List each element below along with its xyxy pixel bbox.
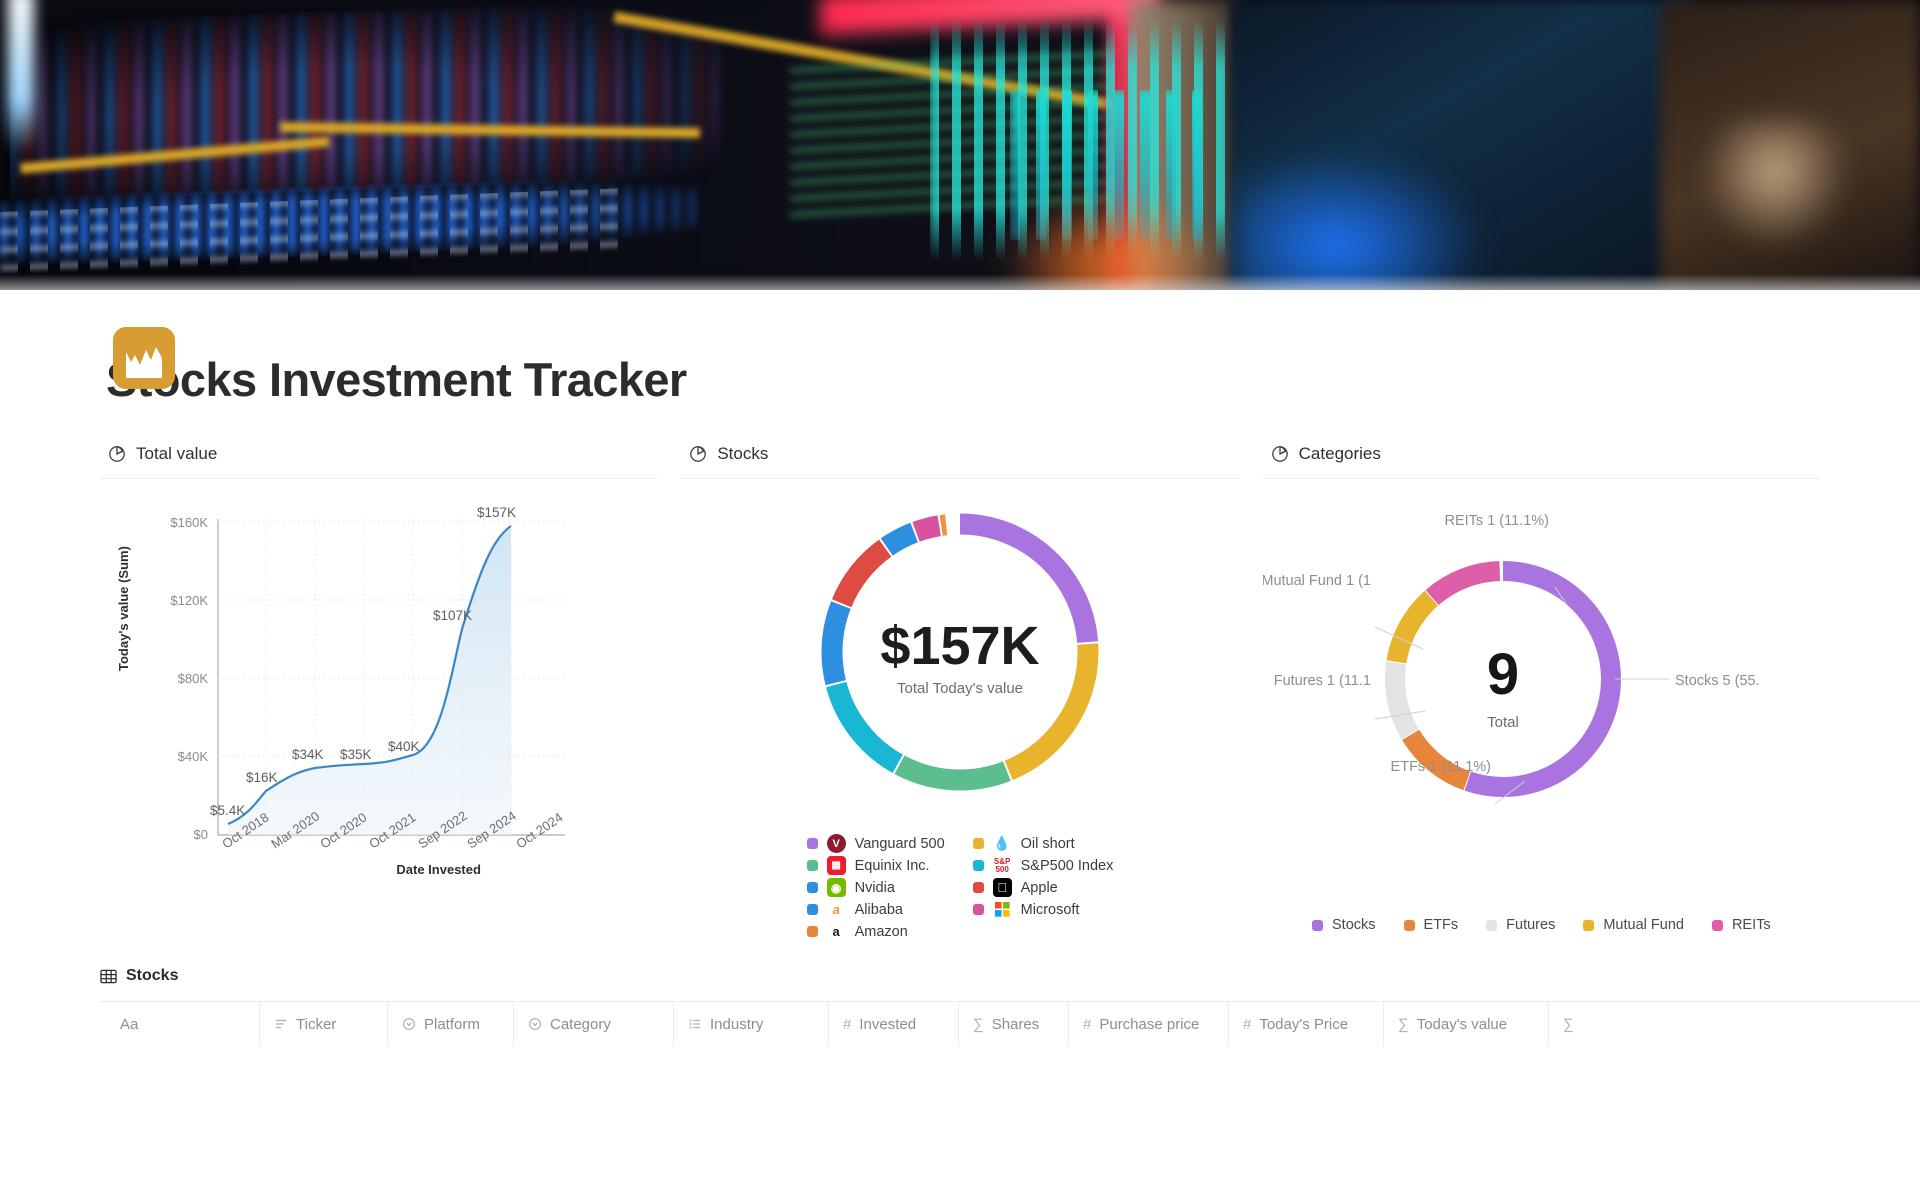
legend-label: Mutual Fund bbox=[1603, 917, 1684, 933]
column-header-industry[interactable]: Industry bbox=[674, 1002, 829, 1046]
y-tick-0: $0 bbox=[194, 827, 208, 842]
point-label-5: $107K bbox=[433, 608, 472, 623]
legend-label: Futures bbox=[1506, 917, 1555, 933]
column-header-category[interactable]: Category bbox=[514, 1002, 674, 1046]
pie-chart-icon bbox=[108, 445, 126, 463]
banner-image bbox=[0, 0, 1920, 290]
stocks-table-section: Stocks Aa Ticker Platform bbox=[0, 967, 1920, 1046]
formula-icon: ∑ bbox=[1398, 1016, 1409, 1033]
column-label: Purchase price bbox=[1099, 1016, 1199, 1033]
page-title: Stocks Investment Tracker bbox=[106, 352, 1920, 407]
donut-center-label: Total bbox=[1487, 714, 1519, 731]
panel-title: Stocks bbox=[717, 444, 768, 464]
column-label: Category bbox=[550, 1016, 611, 1033]
legend-label: Apple bbox=[1021, 880, 1058, 896]
donut-center-value: 9 bbox=[1487, 642, 1519, 707]
legend-color-swatch bbox=[1486, 920, 1497, 931]
page-banner bbox=[0, 0, 1920, 290]
charts-row: Total value Today's value (Sum) $160K $1… bbox=[0, 444, 1920, 941]
equinix-icon: ▦ bbox=[827, 856, 846, 875]
panel-title: Total value bbox=[136, 444, 217, 464]
table-icon bbox=[100, 968, 117, 985]
point-label-6: $157K bbox=[477, 505, 516, 520]
stocks-donut-chart[interactable]: $157K Total Today's value bbox=[681, 479, 1238, 824]
column-header-overflow[interactable]: ∑ bbox=[1549, 1002, 1639, 1046]
callout-futures: Futures 1 (11.1 bbox=[1273, 673, 1370, 689]
column-label: Platform bbox=[424, 1016, 480, 1033]
panel-categories: Categories bbox=[1263, 444, 1820, 941]
legend-color-swatch bbox=[1312, 920, 1323, 931]
legend-label: Vanguard 500 bbox=[855, 836, 945, 852]
legend-label: Nvidia bbox=[855, 880, 895, 896]
point-label-0: $5.4K bbox=[210, 803, 245, 818]
panel-header-stocks: Stocks bbox=[681, 444, 1238, 479]
formula-icon: ∑ bbox=[1563, 1016, 1574, 1033]
table-header: Stocks bbox=[100, 967, 1920, 1001]
point-label-1: $16K bbox=[246, 770, 278, 785]
legend-label: S&P500 Index bbox=[1021, 858, 1114, 874]
legend-item-etfs[interactable]: ETFs bbox=[1404, 917, 1459, 933]
column-header-todays-price[interactable]: # Today's Price bbox=[1229, 1002, 1384, 1046]
legend-item-futures[interactable]: Futures bbox=[1486, 917, 1555, 933]
legend-color-swatch bbox=[1583, 920, 1594, 931]
column-label: Industry bbox=[710, 1016, 763, 1033]
multiselect-icon bbox=[688, 1017, 702, 1031]
nvidia-icon: ◉ bbox=[827, 878, 846, 897]
line-chart-svg[interactable]: $160K $120K $80K $40K $0 bbox=[100, 479, 570, 869]
column-label: Shares bbox=[992, 1016, 1040, 1033]
categories-legend: Stocks ETFs Futures Mutual Fund REITs bbox=[1263, 917, 1820, 933]
callout-etfs: ETFs 1 (11.1%) bbox=[1390, 759, 1490, 775]
legend-color-swatch bbox=[1404, 920, 1415, 931]
y-tick-80k: $80K bbox=[178, 671, 209, 686]
legend-item-microsoft[interactable]: Microsoft bbox=[973, 900, 1114, 919]
legend-color-swatch bbox=[807, 904, 818, 915]
legend-label: Microsoft bbox=[1021, 902, 1080, 918]
pie-chart-icon bbox=[689, 445, 707, 463]
legend-label: Oil short bbox=[1021, 836, 1075, 852]
legend-color-swatch bbox=[973, 838, 984, 849]
legend-label: Amazon bbox=[855, 924, 908, 940]
amazon-icon: a bbox=[827, 922, 846, 941]
column-label: Aa bbox=[120, 1016, 138, 1033]
legend-label: Alibaba bbox=[855, 902, 903, 918]
text-icon bbox=[274, 1017, 288, 1031]
panel-header-total-value: Total value bbox=[100, 444, 657, 479]
categories-donut-svg[interactable]: 9 Total REITs 1 (11.1%) Mutual Fund 1 (1 bbox=[1263, 479, 1820, 899]
pie-chart-icon bbox=[1271, 445, 1289, 463]
y-tick-160k: $160K bbox=[170, 515, 208, 530]
table-title: Stocks bbox=[126, 967, 178, 985]
sp500-icon: S&P500 bbox=[993, 856, 1012, 875]
legend-item-sp500-index[interactable]: S&P500 S&P500 Index bbox=[973, 856, 1114, 875]
panel-header-categories: Categories bbox=[1263, 444, 1820, 479]
x-tick-6: Oct 2024 bbox=[513, 810, 565, 852]
column-header-purchase-price[interactable]: # Purchase price bbox=[1069, 1002, 1229, 1046]
vanguard-icon: V bbox=[827, 834, 846, 853]
legend-item-alibaba[interactable]: a Alibaba bbox=[807, 900, 945, 919]
alibaba-icon: a bbox=[827, 900, 846, 919]
select-icon bbox=[402, 1017, 416, 1031]
donut-center-value: $157K bbox=[880, 616, 1039, 676]
panel-title: Categories bbox=[1299, 444, 1381, 464]
stocks-legend: V Vanguard 500 💧 Oil short ▦ Equinix Inc… bbox=[681, 834, 1238, 941]
categories-donut-chart[interactable]: 9 Total REITs 1 (11.1%) Mutual Fund 1 (1 bbox=[1263, 479, 1820, 899]
legend-item-oil-short[interactable]: 💧 Oil short bbox=[973, 834, 1114, 853]
column-label: Today's Price bbox=[1259, 1016, 1348, 1033]
number-icon: # bbox=[843, 1016, 851, 1033]
legend-label: ETFs bbox=[1424, 917, 1459, 933]
y-tick-40k: $40K bbox=[178, 749, 209, 764]
column-header-shares[interactable]: ∑ Shares bbox=[959, 1002, 1069, 1046]
column-label: Ticker bbox=[296, 1016, 336, 1033]
number-icon: # bbox=[1243, 1016, 1251, 1033]
legend-color-swatch bbox=[807, 838, 818, 849]
legend-color-swatch bbox=[973, 904, 984, 915]
legend-color-swatch bbox=[807, 926, 818, 937]
legend-item-stocks[interactable]: Stocks bbox=[1312, 917, 1376, 933]
panel-total-value: Total value Today's value (Sum) $160K $1… bbox=[100, 444, 657, 941]
stock-chart-icon[interactable] bbox=[113, 327, 175, 389]
panel-stocks: Stocks bbox=[681, 444, 1238, 941]
legend-item-vanguard-500[interactable]: V Vanguard 500 bbox=[807, 834, 945, 853]
column-header-ticker[interactable]: Ticker bbox=[260, 1002, 388, 1046]
column-header-title[interactable]: Aa bbox=[100, 1002, 260, 1046]
select-icon bbox=[528, 1017, 542, 1031]
callout-mutual-fund: Mutual Fund 1 (1 bbox=[1263, 573, 1371, 589]
column-header-invested[interactable]: # Invested bbox=[829, 1002, 959, 1046]
legend-item-apple[interactable]:  Apple bbox=[973, 878, 1114, 897]
callout-reits: REITs 1 (11.1%) bbox=[1444, 513, 1549, 529]
stocks-table: Aa Ticker Platform Category bbox=[100, 1001, 1920, 1046]
apple-icon:  bbox=[993, 878, 1012, 897]
legend-item-equinix-inc[interactable]: ▦ Equinix Inc. bbox=[807, 856, 945, 875]
x-axis-title: Date Invested bbox=[100, 862, 657, 877]
line-chart[interactable]: Today's value (Sum) $160K $120K $80K $40… bbox=[100, 479, 657, 899]
microsoft-icon bbox=[993, 900, 1012, 919]
legend-item-nvidia[interactable]: ◉ Nvidia bbox=[807, 878, 945, 897]
legend-color-swatch bbox=[1712, 920, 1723, 931]
column-label: Invested bbox=[859, 1016, 916, 1033]
point-label-3: $35K bbox=[340, 747, 372, 762]
point-label-2: $34K bbox=[292, 747, 324, 762]
legend-color-swatch bbox=[973, 882, 984, 893]
stocks-donut-svg[interactable]: $157K Total Today's value bbox=[795, 487, 1125, 817]
column-label: Today's value bbox=[1417, 1016, 1507, 1033]
point-label-4: $40K bbox=[388, 739, 420, 754]
formula-icon: ∑ bbox=[973, 1016, 984, 1033]
y-tick-120k: $120K bbox=[170, 593, 208, 608]
column-header-platform[interactable]: Platform bbox=[388, 1002, 514, 1046]
number-icon: # bbox=[1083, 1016, 1091, 1033]
legend-item-amazon[interactable]: a Amazon bbox=[807, 922, 945, 941]
callout-stocks: Stocks 5 (55. bbox=[1675, 673, 1760, 689]
legend-label: Equinix Inc. bbox=[855, 858, 930, 874]
legend-item-mutual-fund[interactable]: Mutual Fund bbox=[1583, 917, 1684, 933]
legend-label: REITs bbox=[1732, 917, 1771, 933]
legend-color-swatch bbox=[807, 860, 818, 871]
y-axis-title: Today's value (Sum) bbox=[116, 546, 131, 671]
oil-short-icon: 💧 bbox=[993, 834, 1012, 853]
legend-color-swatch bbox=[973, 860, 984, 871]
donut-center-label: Total Today's value bbox=[897, 680, 1023, 697]
column-header-todays-value[interactable]: ∑ Today's value bbox=[1384, 1002, 1549, 1046]
legend-color-swatch bbox=[807, 882, 818, 893]
legend-label: Stocks bbox=[1332, 917, 1376, 933]
legend-item-reits[interactable]: REITs bbox=[1712, 917, 1771, 933]
